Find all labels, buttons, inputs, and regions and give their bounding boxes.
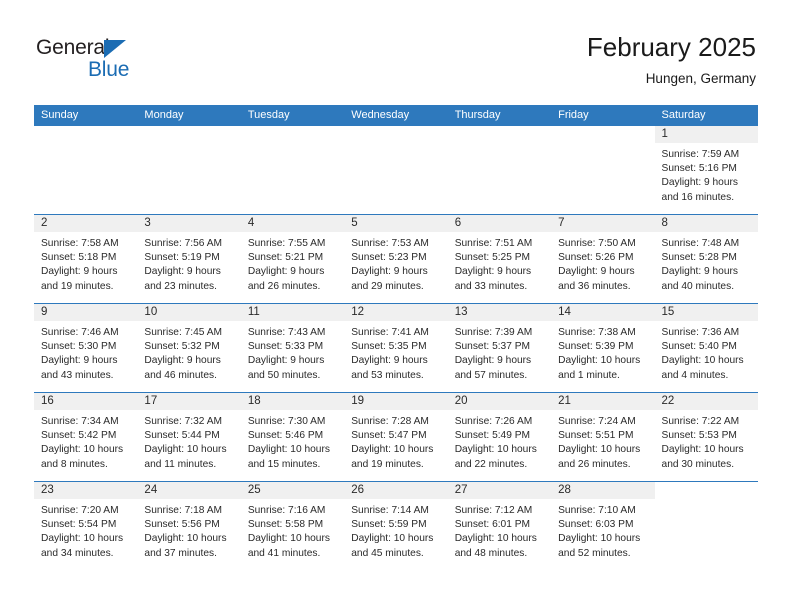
calendar-cell: 18Sunrise: 7:30 AMSunset: 5:46 PMDayligh… [241,393,344,482]
day-number: 16 [34,393,137,410]
calendar-day[interactable]: 17Sunrise: 7:32 AMSunset: 5:44 PMDayligh… [137,393,240,481]
daylight-text: Daylight: 10 hours and 8 minutes. [41,443,132,471]
calendar-cell: 25Sunrise: 7:16 AMSunset: 5:58 PMDayligh… [241,482,344,571]
calendar-cell: 20Sunrise: 7:26 AMSunset: 5:49 PMDayligh… [448,393,551,482]
day-details: Sunrise: 7:30 AMSunset: 5:46 PMDaylight:… [241,410,344,472]
logo-triangle-icon [104,40,126,58]
calendar-cell: 7Sunrise: 7:50 AMSunset: 5:26 PMDaylight… [551,215,654,304]
day-details: Sunrise: 7:16 AMSunset: 5:58 PMDaylight:… [241,499,344,561]
daylight-text: Daylight: 10 hours and 4 minutes. [662,354,753,382]
month-calendar: Sunday Monday Tuesday Wednesday Thursday… [34,105,758,570]
weekday-header-saturday: Saturday [655,105,758,126]
day-number: 28 [551,482,654,499]
calendar-week-row: 23Sunrise: 7:20 AMSunset: 5:54 PMDayligh… [34,482,758,571]
sunrise-text: Sunrise: 7:38 AM [558,326,649,340]
day-details: Sunrise: 7:45 AMSunset: 5:32 PMDaylight:… [137,321,240,383]
calendar-day[interactable]: 11Sunrise: 7:43 AMSunset: 5:33 PMDayligh… [241,304,344,392]
calendar-cell: 12Sunrise: 7:41 AMSunset: 5:35 PMDayligh… [344,304,447,393]
calendar-day[interactable]: 28Sunrise: 7:10 AMSunset: 6:03 PMDayligh… [551,482,654,570]
day-number: 26 [344,482,447,499]
calendar-cell: 11Sunrise: 7:43 AMSunset: 5:33 PMDayligh… [241,304,344,393]
day-number: 24 [137,482,240,499]
calendar-cell: 9Sunrise: 7:46 AMSunset: 5:30 PMDaylight… [34,304,137,393]
sunrise-text: Sunrise: 7:20 AM [41,504,132,518]
sunset-text: Sunset: 6:01 PM [455,518,546,532]
day-number: 11 [241,304,344,321]
calendar-day[interactable]: 26Sunrise: 7:14 AMSunset: 5:59 PMDayligh… [344,482,447,570]
day-number: 5 [344,215,447,232]
sunset-text: Sunset: 5:54 PM [41,518,132,532]
day-details: Sunrise: 7:48 AMSunset: 5:28 PMDaylight:… [655,232,758,294]
calendar-cell: 10Sunrise: 7:45 AMSunset: 5:32 PMDayligh… [137,304,240,393]
calendar-cell: 17Sunrise: 7:32 AMSunset: 5:44 PMDayligh… [137,393,240,482]
calendar-cell [551,126,654,215]
calendar-cell [655,482,758,571]
day-number [655,482,758,499]
logo-text-blue: Blue [88,58,129,82]
calendar-cell [241,126,344,215]
calendar-day[interactable]: 7Sunrise: 7:50 AMSunset: 5:26 PMDaylight… [551,215,654,303]
day-details: Sunrise: 7:22 AMSunset: 5:53 PMDaylight:… [655,410,758,472]
sunrise-text: Sunrise: 7:45 AM [144,326,235,340]
calendar-week-row: 1Sunrise: 7:59 AMSunset: 5:16 PMDaylight… [34,126,758,215]
page-header: General Blue February 2025 Hungen, Germa… [0,0,792,100]
weekday-header-friday: Friday [551,105,654,126]
sunset-text: Sunset: 5:42 PM [41,429,132,443]
page-subtitle: Hungen, Germany [587,70,756,88]
calendar-day[interactable]: 3Sunrise: 7:56 AMSunset: 5:19 PMDaylight… [137,215,240,303]
sunrise-text: Sunrise: 7:22 AM [662,415,753,429]
sunrise-text: Sunrise: 7:18 AM [144,504,235,518]
sunrise-text: Sunrise: 7:36 AM [662,326,753,340]
sunset-text: Sunset: 5:47 PM [351,429,442,443]
day-number: 1 [655,126,758,143]
calendar-cell: 16Sunrise: 7:34 AMSunset: 5:42 PMDayligh… [34,393,137,482]
sunrise-text: Sunrise: 7:55 AM [248,237,339,251]
calendar-cell: 3Sunrise: 7:56 AMSunset: 5:19 PMDaylight… [137,215,240,304]
daylight-text: Daylight: 9 hours and 19 minutes. [41,265,132,293]
daylight-text: Daylight: 10 hours and 37 minutes. [144,532,235,560]
daylight-text: Daylight: 10 hours and 48 minutes. [455,532,546,560]
calendar-day-empty [448,126,551,214]
sunrise-text: Sunrise: 7:30 AM [248,415,339,429]
weekday-header-thursday: Thursday [448,105,551,126]
daylight-text: Daylight: 10 hours and 1 minute. [558,354,649,382]
calendar-cell: 28Sunrise: 7:10 AMSunset: 6:03 PMDayligh… [551,482,654,571]
day-number: 21 [551,393,654,410]
sunrise-text: Sunrise: 7:53 AM [351,237,442,251]
day-details: Sunrise: 7:59 AMSunset: 5:16 PMDaylight:… [655,143,758,205]
sunrise-text: Sunrise: 7:16 AM [248,504,339,518]
calendar-day[interactable]: 18Sunrise: 7:30 AMSunset: 5:46 PMDayligh… [241,393,344,481]
day-number: 3 [137,215,240,232]
sunset-text: Sunset: 5:33 PM [248,340,339,354]
sunset-text: Sunset: 5:44 PM [144,429,235,443]
calendar-cell: 4Sunrise: 7:55 AMSunset: 5:21 PMDaylight… [241,215,344,304]
sunset-text: Sunset: 5:21 PM [248,251,339,265]
calendar-day[interactable]: 4Sunrise: 7:55 AMSunset: 5:21 PMDaylight… [241,215,344,303]
page-title: February 2025 [587,32,756,62]
calendar-day[interactable]: 19Sunrise: 7:28 AMSunset: 5:47 PMDayligh… [344,393,447,481]
sunrise-text: Sunrise: 7:58 AM [41,237,132,251]
day-number: 8 [655,215,758,232]
calendar-cell: 6Sunrise: 7:51 AMSunset: 5:25 PMDaylight… [448,215,551,304]
sunrise-text: Sunrise: 7:14 AM [351,504,442,518]
sunrise-text: Sunrise: 7:39 AM [455,326,546,340]
calendar-cell [344,126,447,215]
day-number [137,126,240,143]
calendar-day[interactable]: 16Sunrise: 7:34 AMSunset: 5:42 PMDayligh… [34,393,137,481]
calendar-day[interactable]: 25Sunrise: 7:16 AMSunset: 5:58 PMDayligh… [241,482,344,570]
calendar-cell: 26Sunrise: 7:14 AMSunset: 5:59 PMDayligh… [344,482,447,571]
daylight-text: Daylight: 9 hours and 43 minutes. [41,354,132,382]
calendar-day[interactable]: 24Sunrise: 7:18 AMSunset: 5:56 PMDayligh… [137,482,240,570]
day-number [241,126,344,143]
sunset-text: Sunset: 5:53 PM [662,429,753,443]
day-number: 9 [34,304,137,321]
daylight-text: Daylight: 9 hours and 23 minutes. [144,265,235,293]
day-details: Sunrise: 7:36 AMSunset: 5:40 PMDaylight:… [655,321,758,383]
calendar-day-empty [137,126,240,214]
sunset-text: Sunset: 5:49 PM [455,429,546,443]
calendar-week-row: 9Sunrise: 7:46 AMSunset: 5:30 PMDaylight… [34,304,758,393]
calendar-day[interactable]: 8Sunrise: 7:48 AMSunset: 5:28 PMDaylight… [655,215,758,303]
day-number: 14 [551,304,654,321]
calendar-day[interactable]: 10Sunrise: 7:45 AMSunset: 5:32 PMDayligh… [137,304,240,392]
sunset-text: Sunset: 5:23 PM [351,251,442,265]
sunset-text: Sunset: 5:40 PM [662,340,753,354]
day-details: Sunrise: 7:14 AMSunset: 5:59 PMDaylight:… [344,499,447,561]
sunset-text: Sunset: 5:30 PM [41,340,132,354]
day-details: Sunrise: 7:56 AMSunset: 5:19 PMDaylight:… [137,232,240,294]
day-details: Sunrise: 7:55 AMSunset: 5:21 PMDaylight:… [241,232,344,294]
daylight-text: Daylight: 9 hours and 53 minutes. [351,354,442,382]
sunset-text: Sunset: 5:58 PM [248,518,339,532]
sunrise-text: Sunrise: 7:28 AM [351,415,442,429]
daylight-text: Daylight: 10 hours and 19 minutes. [351,443,442,471]
day-number: 15 [655,304,758,321]
sunset-text: Sunset: 5:26 PM [558,251,649,265]
day-details: Sunrise: 7:12 AMSunset: 6:01 PMDaylight:… [448,499,551,561]
day-number: 27 [448,482,551,499]
sunrise-text: Sunrise: 7:56 AM [144,237,235,251]
day-number: 19 [344,393,447,410]
logo-text-general: General [36,36,109,60]
day-number [448,126,551,143]
daylight-text: Daylight: 9 hours and 29 minutes. [351,265,442,293]
day-number: 22 [655,393,758,410]
day-number: 4 [241,215,344,232]
calendar-day-empty [344,126,447,214]
day-number: 18 [241,393,344,410]
sunrise-text: Sunrise: 7:51 AM [455,237,546,251]
daylight-text: Daylight: 10 hours and 26 minutes. [558,443,649,471]
calendar-day[interactable]: 9Sunrise: 7:46 AMSunset: 5:30 PMDaylight… [34,304,137,392]
calendar-cell: 2Sunrise: 7:58 AMSunset: 5:18 PMDaylight… [34,215,137,304]
sunrise-text: Sunrise: 7:10 AM [558,504,649,518]
calendar-day[interactable]: 5Sunrise: 7:53 AMSunset: 5:23 PMDaylight… [344,215,447,303]
sunset-text: Sunset: 5:35 PM [351,340,442,354]
daylight-text: Daylight: 9 hours and 26 minutes. [248,265,339,293]
day-number: 20 [448,393,551,410]
calendar-day[interactable]: 15Sunrise: 7:36 AMSunset: 5:40 PMDayligh… [655,304,758,392]
calendar-week-row: 2Sunrise: 7:58 AMSunset: 5:18 PMDaylight… [34,215,758,304]
calendar-cell: 24Sunrise: 7:18 AMSunset: 5:56 PMDayligh… [137,482,240,571]
daylight-text: Daylight: 10 hours and 22 minutes. [455,443,546,471]
sunset-text: Sunset: 5:59 PM [351,518,442,532]
sunset-text: Sunset: 5:39 PM [558,340,649,354]
daylight-text: Daylight: 9 hours and 46 minutes. [144,354,235,382]
calendar-day[interactable]: 6Sunrise: 7:51 AMSunset: 5:25 PMDaylight… [448,215,551,303]
daylight-text: Daylight: 9 hours and 50 minutes. [248,354,339,382]
calendar-day[interactable]: 2Sunrise: 7:58 AMSunset: 5:18 PMDaylight… [34,215,137,303]
day-number: 13 [448,304,551,321]
day-details: Sunrise: 7:24 AMSunset: 5:51 PMDaylight:… [551,410,654,472]
general-blue-logo: General Blue [36,36,176,84]
calendar-cell [448,126,551,215]
sunset-text: Sunset: 6:03 PM [558,518,649,532]
weekday-header-monday: Monday [137,105,240,126]
sunset-text: Sunset: 5:25 PM [455,251,546,265]
weekday-header-sunday: Sunday [34,105,137,126]
calendar-cell: 14Sunrise: 7:38 AMSunset: 5:39 PMDayligh… [551,304,654,393]
sunrise-text: Sunrise: 7:46 AM [41,326,132,340]
day-details: Sunrise: 7:18 AMSunset: 5:56 PMDaylight:… [137,499,240,561]
calendar-cell: 19Sunrise: 7:28 AMSunset: 5:47 PMDayligh… [344,393,447,482]
day-number [344,126,447,143]
day-details: Sunrise: 7:53 AMSunset: 5:23 PMDaylight:… [344,232,447,294]
day-number: 2 [34,215,137,232]
calendar-cell: 5Sunrise: 7:53 AMSunset: 5:23 PMDaylight… [344,215,447,304]
daylight-text: Daylight: 9 hours and 36 minutes. [558,265,649,293]
calendar-day[interactable]: 23Sunrise: 7:20 AMSunset: 5:54 PMDayligh… [34,482,137,570]
day-details: Sunrise: 7:39 AMSunset: 5:37 PMDaylight:… [448,321,551,383]
day-number: 25 [241,482,344,499]
calendar-body: 1Sunrise: 7:59 AMSunset: 5:16 PMDaylight… [34,126,758,570]
calendar-day[interactable]: 14Sunrise: 7:38 AMSunset: 5:39 PMDayligh… [551,304,654,392]
calendar-day[interactable]: 1Sunrise: 7:59 AMSunset: 5:16 PMDaylight… [655,126,758,214]
day-details: Sunrise: 7:34 AMSunset: 5:42 PMDaylight:… [34,410,137,472]
sunset-text: Sunset: 5:46 PM [248,429,339,443]
sunrise-text: Sunrise: 7:24 AM [558,415,649,429]
sunset-text: Sunset: 5:16 PM [662,162,753,176]
calendar-day[interactable]: 12Sunrise: 7:41 AMSunset: 5:35 PMDayligh… [344,304,447,392]
calendar-day[interactable]: 20Sunrise: 7:26 AMSunset: 5:49 PMDayligh… [448,393,551,481]
day-number: 17 [137,393,240,410]
daylight-text: Daylight: 9 hours and 40 minutes. [662,265,753,293]
day-number: 12 [344,304,447,321]
daylight-text: Daylight: 10 hours and 15 minutes. [248,443,339,471]
daylight-text: Daylight: 9 hours and 16 minutes. [662,176,753,204]
sunrise-text: Sunrise: 7:41 AM [351,326,442,340]
day-number: 6 [448,215,551,232]
sunset-text: Sunset: 5:18 PM [41,251,132,265]
weekday-header-wednesday: Wednesday [344,105,447,126]
day-details: Sunrise: 7:43 AMSunset: 5:33 PMDaylight:… [241,321,344,383]
calendar-cell [137,126,240,215]
calendar-day-empty [241,126,344,214]
day-details: Sunrise: 7:10 AMSunset: 6:03 PMDaylight:… [551,499,654,561]
calendar-day[interactable]: 21Sunrise: 7:24 AMSunset: 5:51 PMDayligh… [551,393,654,481]
sunrise-text: Sunrise: 7:32 AM [144,415,235,429]
weekday-header-tuesday: Tuesday [241,105,344,126]
weekday-header-row: Sunday Monday Tuesday Wednesday Thursday… [34,105,758,126]
day-details: Sunrise: 7:41 AMSunset: 5:35 PMDaylight:… [344,321,447,383]
sunset-text: Sunset: 5:28 PM [662,251,753,265]
calendar-cell: 23Sunrise: 7:20 AMSunset: 5:54 PMDayligh… [34,482,137,571]
day-details: Sunrise: 7:58 AMSunset: 5:18 PMDaylight:… [34,232,137,294]
daylight-text: Daylight: 10 hours and 11 minutes. [144,443,235,471]
day-details: Sunrise: 7:26 AMSunset: 5:49 PMDaylight:… [448,410,551,472]
daylight-text: Daylight: 10 hours and 30 minutes. [662,443,753,471]
calendar-day-empty [34,126,137,214]
calendar-cell: 22Sunrise: 7:22 AMSunset: 5:53 PMDayligh… [655,393,758,482]
sunset-text: Sunset: 5:32 PM [144,340,235,354]
calendar-week-row: 16Sunrise: 7:34 AMSunset: 5:42 PMDayligh… [34,393,758,482]
calendar-cell: 27Sunrise: 7:12 AMSunset: 6:01 PMDayligh… [448,482,551,571]
sunrise-text: Sunrise: 7:50 AM [558,237,649,251]
daylight-text: Daylight: 10 hours and 45 minutes. [351,532,442,560]
day-number: 23 [34,482,137,499]
calendar-cell [34,126,137,215]
day-details: Sunrise: 7:46 AMSunset: 5:30 PMDaylight:… [34,321,137,383]
daylight-text: Daylight: 10 hours and 41 minutes. [248,532,339,560]
daylight-text: Daylight: 9 hours and 57 minutes. [455,354,546,382]
title-block: February 2025 Hungen, Germany [587,32,756,88]
day-number [551,126,654,143]
calendar-day[interactable]: 22Sunrise: 7:22 AMSunset: 5:53 PMDayligh… [655,393,758,481]
sunrise-text: Sunrise: 7:43 AM [248,326,339,340]
sunset-text: Sunset: 5:51 PM [558,429,649,443]
calendar-cell: 15Sunrise: 7:36 AMSunset: 5:40 PMDayligh… [655,304,758,393]
sunrise-text: Sunrise: 7:34 AM [41,415,132,429]
calendar-cell: 8Sunrise: 7:48 AMSunset: 5:28 PMDaylight… [655,215,758,304]
calendar-cell: 21Sunrise: 7:24 AMSunset: 5:51 PMDayligh… [551,393,654,482]
calendar-day-empty [551,126,654,214]
sunset-text: Sunset: 5:56 PM [144,518,235,532]
day-details: Sunrise: 7:32 AMSunset: 5:44 PMDaylight:… [137,410,240,472]
daylight-text: Daylight: 10 hours and 52 minutes. [558,532,649,560]
sunset-text: Sunset: 5:19 PM [144,251,235,265]
day-number: 7 [551,215,654,232]
day-details: Sunrise: 7:28 AMSunset: 5:47 PMDaylight:… [344,410,447,472]
day-details: Sunrise: 7:50 AMSunset: 5:26 PMDaylight:… [551,232,654,294]
daylight-text: Daylight: 9 hours and 33 minutes. [455,265,546,293]
calendar-day[interactable]: 27Sunrise: 7:12 AMSunset: 6:01 PMDayligh… [448,482,551,570]
sunrise-text: Sunrise: 7:26 AM [455,415,546,429]
sunset-text: Sunset: 5:37 PM [455,340,546,354]
calendar-day-empty [655,482,758,570]
day-details: Sunrise: 7:20 AMSunset: 5:54 PMDaylight:… [34,499,137,561]
sunrise-text: Sunrise: 7:48 AM [662,237,753,251]
calendar-cell: 1Sunrise: 7:59 AMSunset: 5:16 PMDaylight… [655,126,758,215]
calendar-day[interactable]: 13Sunrise: 7:39 AMSunset: 5:37 PMDayligh… [448,304,551,392]
sunrise-text: Sunrise: 7:59 AM [662,148,753,162]
calendar-cell: 13Sunrise: 7:39 AMSunset: 5:37 PMDayligh… [448,304,551,393]
sunrise-text: Sunrise: 7:12 AM [455,504,546,518]
calendar-page: General Blue February 2025 Hungen, Germa… [0,0,792,612]
day-number: 10 [137,304,240,321]
day-details: Sunrise: 7:51 AMSunset: 5:25 PMDaylight:… [448,232,551,294]
day-details: Sunrise: 7:38 AMSunset: 5:39 PMDaylight:… [551,321,654,383]
daylight-text: Daylight: 10 hours and 34 minutes. [41,532,132,560]
day-number [34,126,137,143]
